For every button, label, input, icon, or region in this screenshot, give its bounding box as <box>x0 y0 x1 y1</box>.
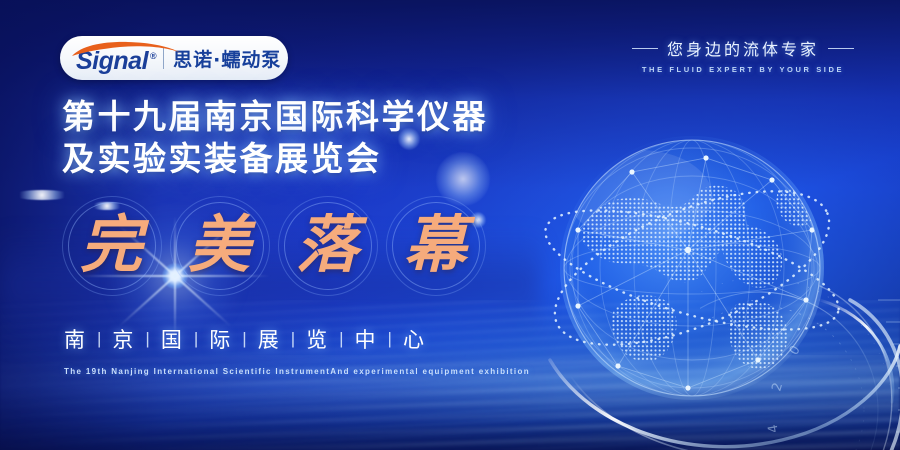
calligraphy-char-1: 完 <box>62 196 160 294</box>
calligraphy-char-cell: 美 <box>170 196 268 304</box>
venue-char-3: 国 <box>161 324 183 354</box>
venue-char-7: 中 <box>355 324 377 354</box>
venue-char-8: 心 <box>403 324 425 354</box>
venue-english-subtitle: The 19th Nanjing International Scientifi… <box>64 367 530 376</box>
calligraphy-char-3: 落 <box>278 196 376 294</box>
globe-graphic: 0 2 4 6 8 <box>520 110 900 450</box>
venue-char-2: 京 <box>112 324 134 354</box>
calligraphy-char-4: 幕 <box>386 196 484 294</box>
orange-swoosh-icon <box>70 41 182 58</box>
logo-chinese-name: 思诺·蠕动泵 <box>173 45 281 72</box>
venue-name-row: 南 | 京 | 国 | 际 | 展 | 览 | 中 | 心 <box>64 324 530 354</box>
tagline-row: 您身边的流体专家 <box>608 36 878 60</box>
headline-line-1: 第十九届南京国际科学仪器 <box>62 96 488 138</box>
venue-separator: | <box>388 329 392 349</box>
event-banner: 0 2 4 6 8 Signal® 思诺·蠕动泵 您身边的流体专 <box>0 0 900 450</box>
calligraphy-char-cell: 幕 <box>386 196 484 304</box>
tagline-block: 您身边的流体专家 THE FLUID EXPERT BY YOUR SIDE <box>608 36 878 74</box>
venue-separator: | <box>194 329 198 349</box>
venue-char-5: 展 <box>258 324 280 354</box>
tagline-chinese: 您身边的流体专家 <box>667 36 819 60</box>
venue-separator: | <box>242 329 246 349</box>
headline-block: 第十九届南京国际科学仪器 及实验实装备展览会 <box>62 96 488 180</box>
venue-block: 南 | 京 | 国 | 际 | 展 | 览 | 中 | 心 The 19th N… <box>64 324 530 376</box>
tagline-english: THE FLUID EXPERT BY YOUR SIDE <box>608 65 878 74</box>
venue-char-1: 南 <box>64 324 86 354</box>
calligraphy-char-2: 美 <box>170 196 268 294</box>
calligraphy-char-cell: 完 <box>62 196 160 304</box>
tagline-rule-right <box>828 48 854 49</box>
venue-separator: | <box>145 329 149 349</box>
company-logo[interactable]: Signal® 思诺·蠕动泵 <box>60 36 288 80</box>
calligraphy-block: 完 美 落 幕 <box>62 196 484 304</box>
dotted-wireframe-globe-icon <box>520 110 900 450</box>
venue-separator: | <box>291 329 295 349</box>
venue-char-6: 览 <box>306 324 328 354</box>
tagline-rule-left <box>632 48 658 49</box>
venue-separator: | <box>339 329 343 349</box>
headline-line-2: 及实验实装备展览会 <box>62 138 488 180</box>
venue-separator: | <box>97 329 101 349</box>
calligraphy-char-cell: 落 <box>278 196 376 304</box>
venue-char-4: 际 <box>209 324 231 354</box>
